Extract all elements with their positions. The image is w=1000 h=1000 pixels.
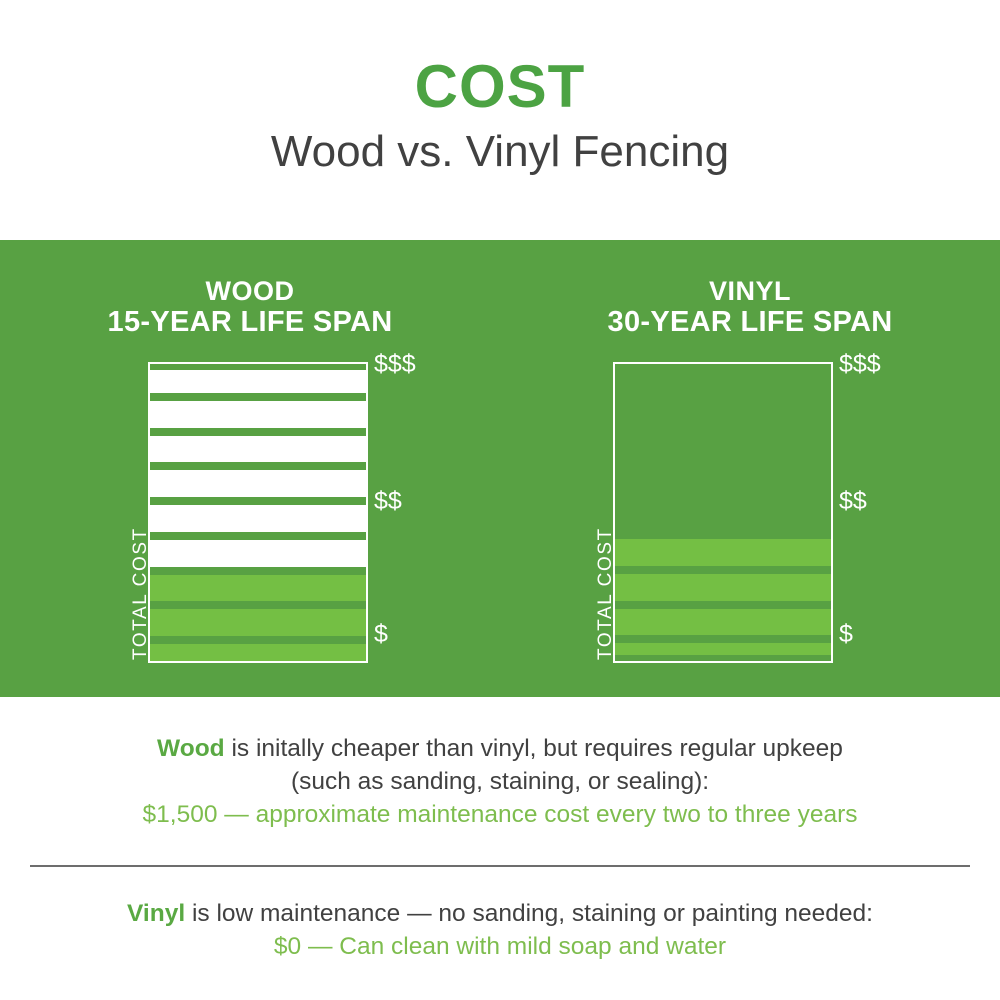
footnote-vinyl: Vinyl is low maintenance — no sanding, s…: [0, 897, 1000, 963]
bar-band-initial-cost: [150, 644, 366, 661]
bar-band-maintenance: [150, 401, 366, 428]
chart-wood-tick-high: $$$: [374, 350, 416, 379]
chart-vinyl-heading: VINYL 30-YEAR LIFE SPAN: [500, 276, 1000, 339]
chart-vinyl: VINYL 30-YEAR LIFE SPAN TOTAL COST $$$ $…: [500, 240, 1000, 697]
chart-vinyl-tick-low: $: [839, 620, 853, 649]
footnote-wood: Wood is initally cheaper than vinyl, but…: [0, 732, 1000, 831]
page-title: COST: [0, 57, 1000, 117]
header: COST Wood vs. Vinyl Fencing: [0, 0, 1000, 240]
chart-wood-heading: WOOD 15-YEAR LIFE SPAN: [0, 276, 500, 339]
bar-band-maintenance: [150, 370, 366, 393]
footnote-wood-line1-rest: is initally cheaper than vinyl, but requ…: [225, 735, 843, 762]
chart-vinyl-tick-high: $$$: [839, 350, 881, 379]
bar-band-maintenance: [150, 505, 366, 532]
bar-band-maintenance: [150, 436, 366, 463]
chart-vinyl-bar: [613, 362, 833, 663]
chart-vinyl-material: VINYL: [500, 276, 1000, 306]
footnote-wood-keyword: Wood: [157, 735, 225, 762]
footnote-vinyl-line1: Vinyl is low maintenance — no sanding, s…: [0, 897, 1000, 930]
page-subtitle: Wood vs. Vinyl Fencing: [0, 128, 1000, 176]
chart-vinyl-tick-mid: $$: [839, 487, 867, 516]
footnote-vinyl-line1-rest: is low maintenance — no sanding, stainin…: [185, 900, 873, 927]
bar-band-initial-cost: [615, 574, 831, 601]
bar-band-initial-cost: [150, 609, 366, 636]
footnote-wood-line2: (such as sanding, staining, or sealing):: [0, 765, 1000, 798]
footnotes-section: Wood is initally cheaper than vinyl, but…: [0, 697, 1000, 1000]
chart-wood-tick-mid: $$: [374, 487, 402, 516]
bar-band-maintenance: [150, 470, 366, 497]
chart-wood-tick-low: $: [374, 620, 388, 649]
section-divider: [30, 865, 970, 867]
footnote-vinyl-money: $0 — Can clean with mild soap and water: [0, 930, 1000, 963]
bar-band-maintenance: [150, 540, 366, 567]
chart-wood: WOOD 15-YEAR LIFE SPAN TOTAL COST $$$ $$…: [0, 240, 500, 697]
bar-band-initial-cost: [615, 539, 831, 566]
footnote-wood-money: $1,500 — approximate maintenance cost ev…: [0, 798, 1000, 831]
footnote-wood-line1: Wood is initally cheaper than vinyl, but…: [0, 732, 1000, 765]
bar-band-initial-cost: [615, 643, 831, 655]
bar-band-initial-cost: [150, 575, 366, 602]
chart-vinyl-lifespan: 30-YEAR LIFE SPAN: [500, 306, 1000, 338]
footnote-vinyl-keyword: Vinyl: [127, 900, 185, 927]
chart-wood-lifespan: 15-YEAR LIFE SPAN: [0, 306, 500, 338]
chart-wood-bar: [148, 362, 368, 663]
bar-band-initial-cost: [615, 609, 831, 636]
chart-wood-material: WOOD: [0, 276, 500, 306]
chart-panel: WOOD 15-YEAR LIFE SPAN TOTAL COST $$$ $$…: [0, 240, 1000, 697]
